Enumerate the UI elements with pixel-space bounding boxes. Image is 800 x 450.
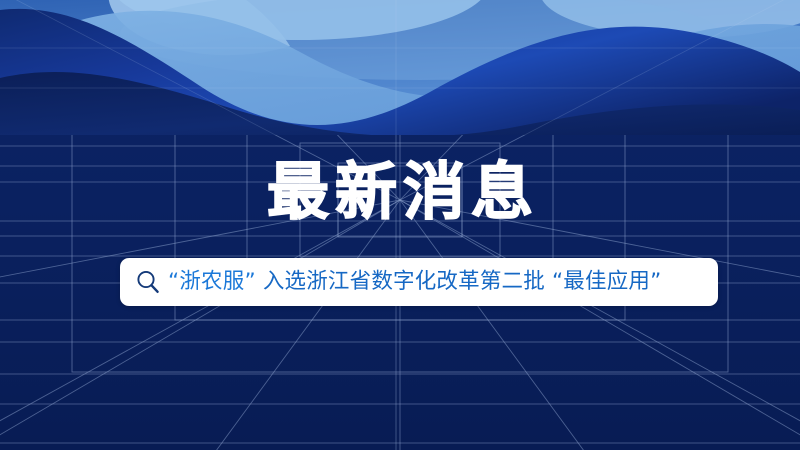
title-block: 最新消息 bbox=[0, 158, 800, 226]
floor-horizontal-lines bbox=[0, 221, 800, 443]
headline-search-bar[interactable]: “浙农服” 入选浙江省数字化改革第二批 “最佳应用” bbox=[120, 258, 718, 306]
page-title: 最新消息 bbox=[261, 158, 539, 226]
news-banner: 最新消息 “浙农服” 入选浙江省数字化改革第二批 “最佳应用” bbox=[0, 0, 800, 450]
headline-rest: 入选浙江省数字化改革第二批 “最佳应用” bbox=[256, 269, 662, 294]
headline-text[interactable]: “浙农服” 入选浙江省数字化改革第二批 “最佳应用” bbox=[168, 268, 704, 296]
search-icon[interactable] bbox=[134, 268, 162, 296]
headline-highlight: “浙农服” bbox=[168, 269, 256, 294]
